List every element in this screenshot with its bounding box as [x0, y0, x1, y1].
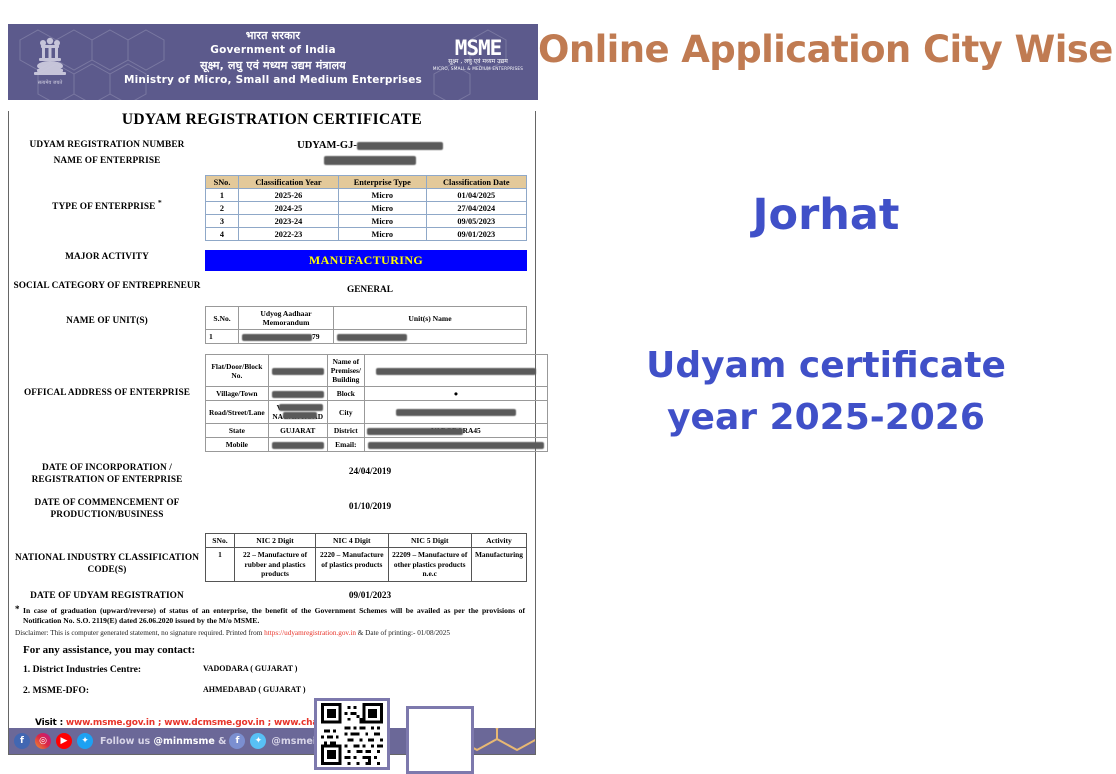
redacted-road-1 — [279, 404, 323, 411]
msme-logo-mark: MSME — [430, 38, 526, 58]
cell-premises-label: Name of Premises/ Building — [327, 355, 364, 387]
instagram-icon[interactable]: ◎ — [35, 733, 51, 749]
youtube-icon[interactable]: ▶ — [56, 733, 72, 749]
cell-district-value: VADODARA45 — [364, 424, 547, 438]
social-category-label: SOCIAL CATEGORY OF ENTREPRENEUR — [9, 279, 205, 293]
nic-row: NATIONAL INDUSTRY CLASSIFICATION CODE(S)… — [9, 531, 535, 582]
cell-uam-suffix: 79 — [312, 332, 320, 341]
redacted-flat — [272, 368, 324, 375]
th-unit-sno: S.No. — [206, 307, 239, 330]
contact-name: 1. District Industries Centre: — [23, 664, 203, 675]
registration-number-label: UDYAM REGISTRATION NUMBER — [9, 138, 205, 152]
cell-email-label: Email: — [327, 438, 364, 452]
right-info-panel: Online Application City Wise Jorhat Udya… — [546, 0, 1116, 753]
th-nic-sno: SNo. — [206, 534, 235, 548]
cell-block-label: Block — [327, 387, 364, 401]
th-sno: SNo. — [206, 176, 239, 189]
cell-district-label: District — [327, 424, 364, 438]
cell-nic-sno: 1 — [206, 548, 235, 582]
cell-year: 2022-23 — [239, 228, 339, 241]
enterprise-name-label: NAME OF ENTERPRISE — [9, 154, 205, 168]
redacted-road-2 — [283, 412, 317, 419]
redacted-registration-number — [357, 142, 443, 150]
th-nic5: NIC 5 Digit — [388, 534, 471, 548]
table-row: 1 79 — [206, 330, 527, 344]
disclaimer: Disclaimer: This is computer generated s… — [9, 626, 535, 638]
cell-type: Micro — [338, 228, 426, 241]
city-name: Jorhat — [546, 190, 1106, 240]
graduation-note-text: In case of graduation (upward/reverse) o… — [23, 606, 525, 625]
contact-item: 2. MSME-DFO: AHMEDABAD ( GUJARAT ) — [9, 675, 535, 696]
cell-district-suffix: 45 — [473, 426, 480, 435]
cell-nic4: 2220 – Manufacture of plastics products — [316, 548, 388, 582]
cell-sno: 2 — [206, 202, 239, 215]
incorporation-value: 24/04/2019 — [205, 461, 535, 477]
nic-table: SNo. NIC 2 Digit NIC 4 Digit NIC 5 Digit… — [205, 533, 527, 582]
table-row: 3 2023-24 Micro 09/05/2023 — [206, 215, 527, 228]
table-row: 1 22 – Manufacture of rubber and plastic… — [206, 548, 527, 582]
cell-sno: 3 — [206, 215, 239, 228]
qr-code — [314, 698, 390, 770]
cell-email-value — [364, 438, 547, 452]
assistance-heading: For any assistance, you may contact: — [9, 638, 535, 660]
cell-uam: 79 — [239, 330, 334, 344]
cell-mobile-value — [268, 438, 327, 452]
contact-value: VADODARA ( GUJARAT ) — [203, 664, 297, 675]
udyam-reg-date-value: 09/01/2023 — [205, 589, 535, 601]
table-row: Mobile Email: — [206, 438, 548, 452]
redacted-premises — [376, 368, 536, 375]
twitter-icon[interactable]: ✦ — [77, 733, 93, 749]
facebook-icon[interactable]: f — [229, 733, 245, 749]
status-badge: MANUFACTURING — [205, 250, 527, 271]
cell-flat-value — [268, 355, 327, 387]
redacted-email — [368, 442, 544, 449]
cell-road-label: Road/Street/Lane — [206, 401, 269, 424]
social-category-row: SOCIAL CATEGORY OF ENTREPRENEUR GENERAL — [9, 279, 535, 295]
cell-premises-value — [364, 355, 547, 387]
major-activity-row: MAJOR ACTIVITY MANUFACTURING — [9, 248, 535, 271]
social-category-value: GENERAL — [205, 279, 535, 295]
twitter-icon[interactable]: ✦ — [250, 733, 266, 749]
cell-year: 2024-25 — [239, 202, 339, 215]
unit-table-cell: S.No. Udyog Aadhaar Memorandum Unit(s) N… — [205, 304, 535, 344]
cell-sno: 1 — [206, 189, 239, 202]
registration-number-text: UDYAM-GJ- — [297, 140, 357, 151]
cell-mobile-label: Mobile — [206, 438, 269, 452]
th-nic4: NIC 4 Digit — [316, 534, 388, 548]
redacted-uam — [242, 334, 312, 341]
cell-nic5: 22209 – Manufacture of other plastics pr… — [388, 548, 471, 582]
certificate-header-banner: सत्यमेव जयते भारत सरकार Government of In… — [8, 24, 538, 100]
cell-city-value — [364, 401, 547, 424]
qr-code-icon — [319, 703, 385, 765]
redacted-mobile — [272, 442, 324, 449]
registration-number-value: UDYAM-GJ- — [205, 138, 535, 151]
enterprise-name-row: NAME OF ENTERPRISE — [9, 154, 535, 168]
ministry-english: Ministry of Micro, Small and Medium Ente… — [8, 73, 538, 88]
msme-logo-english: MICRO, SMALL & MEDIUM ENTERPRISES — [430, 66, 526, 72]
th-enterprise-type: Enterprise Type — [338, 176, 426, 189]
cell-nic-activity: Manufacturing — [471, 548, 526, 582]
major-activity-label: MAJOR ACTIVITY — [9, 248, 205, 264]
facebook-icon[interactable]: f — [14, 733, 30, 749]
nic-table-cell: SNo. NIC 2 Digit NIC 4 Digit NIC 5 Digit… — [205, 531, 535, 582]
cell-year: 2023-24 — [239, 215, 339, 228]
cell-nic2: 22 – Manufacture of rubber and plastics … — [235, 548, 316, 582]
cell-year: 2025-26 — [239, 189, 339, 202]
udyam-reg-date-label: DATE OF UDYAM REGISTRATION — [9, 589, 205, 603]
address-table: Flat/Door/Block No. Name of Premises/ Bu… — [205, 354, 548, 452]
cell-sno: 4 — [206, 228, 239, 241]
udyam-portal-link[interactable]: https://udyamregistration.gov.in — [264, 629, 356, 637]
cell-block-value: ● — [364, 387, 547, 401]
follow-text: Follow us @minmsme & — [100, 736, 226, 747]
table-row: 4 2022-23 Micro 09/01/2023 — [206, 228, 527, 241]
th-unit-name: Unit(s) Name — [334, 307, 527, 330]
incorporation-row: DATE OF INCORPORATION / REGISTRATION OF … — [9, 461, 535, 486]
disclaimer-suffix: & Date of printing:- 01/08/2025 — [356, 629, 450, 637]
msme-logo-hindi: सूक्ष्म , लघु एवं मध्यम उद्यम — [430, 58, 526, 66]
table-row: 2 2024-25 Micro 27/04/2024 — [206, 202, 527, 215]
th-nic2: NIC 2 Digit — [235, 534, 316, 548]
address-label: OFFICAL ADDRESS OF ENTERPRISE — [9, 352, 205, 400]
registration-number-row: UDYAM REGISTRATION NUMBER UDYAM-GJ- — [9, 138, 535, 152]
cell-type: Micro — [338, 202, 426, 215]
enterprise-name-value — [205, 154, 535, 166]
cell-village-value — [268, 387, 327, 401]
cell-state-label: State — [206, 424, 269, 438]
address-row: OFFICAL ADDRESS OF ENTERPRISE Flat/Door/… — [9, 352, 535, 452]
major-activity-value-cell: MANUFACTURING — [205, 248, 535, 271]
th-classification-date: Classification Date — [426, 176, 526, 189]
contact-value: AHMEDABAD ( GUJARAT ) — [203, 685, 306, 696]
panel-heading: Online Application City Wise — [538, 28, 1116, 71]
graduation-note: * In case of graduation (upward/reverse)… — [9, 604, 535, 626]
follow-handle-1: @minmsme — [153, 736, 214, 747]
redacted-village — [272, 391, 324, 398]
redacted-district — [367, 428, 463, 435]
unit-name-label: NAME OF UNIT(S) — [9, 304, 205, 328]
caption-line-2: year 2025-2026 — [546, 392, 1106, 444]
table-header-row: S.No. Udyog Aadhaar Memorandum Unit(s) N… — [206, 307, 527, 330]
redacted-city — [396, 409, 516, 416]
enterprise-type-row: TYPE OF ENTERPRISE * SNo. Classification… — [9, 173, 535, 241]
cell-date: 09/01/2023 — [426, 228, 526, 241]
th-activity: Activity — [471, 534, 526, 548]
cell-date: 27/04/2024 — [426, 202, 526, 215]
blank-overlay-box — [406, 706, 474, 774]
visit-prefix: Visit : — [35, 718, 66, 728]
address-table-cell: Flat/Door/Block No. Name of Premises/ Bu… — [205, 352, 548, 452]
table-header-row: SNo. Classification Year Enterprise Type… — [206, 176, 527, 189]
cell-unit-name — [334, 330, 527, 344]
commencement-row: DATE OF COMMENCEMENT OF PRODUCTION/BUSIN… — [9, 496, 535, 521]
unit-name-row: NAME OF UNIT(S) S.No. Udyog Aadhaar Memo… — [9, 304, 535, 344]
enterprise-type-label-text: TYPE OF ENTERPRISE — [52, 202, 155, 212]
cell-date: 01/04/2025 — [426, 189, 526, 202]
enterprise-type-table-cell: SNo. Classification Year Enterprise Type… — [205, 173, 535, 241]
udyam-certificate-document: सत्यमेव जयते भारत सरकार Government of In… — [8, 24, 538, 746]
contact-name: 2. MSME-DFO: — [23, 685, 203, 696]
table-row: Village/Town Block ● — [206, 387, 548, 401]
enterprise-type-table: SNo. Classification Year Enterprise Type… — [205, 175, 527, 241]
commencement-value: 01/10/2019 — [205, 496, 535, 512]
table-row: Flat/Door/Block No. Name of Premises/ Bu… — [206, 355, 548, 387]
follow-label: Follow us — [100, 736, 153, 747]
nic-label: NATIONAL INDUSTRY CLASSIFICATION CODE(S) — [9, 531, 205, 576]
cell-type: Micro — [338, 215, 426, 228]
th-uam: Udyog Aadhaar Memorandum — [239, 307, 334, 330]
cell-type: Micro — [338, 189, 426, 202]
contact-item: 1. District Industries Centre: VADODARA … — [9, 660, 535, 675]
caption-line-1: Udyam certificate — [546, 340, 1106, 392]
redacted-enterprise-name — [324, 156, 416, 165]
cell-unit-sno: 1 — [206, 330, 239, 344]
commencement-label: DATE OF COMMENCEMENT OF PRODUCTION/BUSIN… — [9, 496, 205, 521]
redacted-unit-name — [337, 334, 407, 341]
msme-logo: MSME सूक्ष्म , लघु एवं मध्यम उद्यम MICRO… — [430, 38, 526, 72]
unit-table: S.No. Udyog Aadhaar Memorandum Unit(s) N… — [205, 306, 527, 344]
enterprise-type-label: TYPE OF ENTERPRISE * — [9, 173, 205, 214]
certificate-year-caption: Udyam certificate year 2025-2026 — [546, 340, 1106, 444]
certificate-body: UDYAM REGISTRATION CERTIFICATE UDYAM REG… — [8, 111, 536, 755]
follow-amp: & — [215, 736, 227, 747]
asterisk-icon: * — [15, 604, 20, 614]
table-header-row: SNo. NIC 2 Digit NIC 4 Digit NIC 5 Digit… — [206, 534, 527, 548]
table-row: Road/Street/Lane VADODARA NAGAR ROAD Cit… — [206, 401, 548, 424]
th-classification-year: Classification Year — [239, 176, 339, 189]
incorporation-label: DATE OF INCORPORATION / REGISTRATION OF … — [9, 461, 205, 486]
table-row: State GUJARAT District VADODARA45 — [206, 424, 548, 438]
udyam-reg-date-row: DATE OF UDYAM REGISTRATION 09/01/2023 — [9, 589, 535, 603]
cell-date: 09/05/2023 — [426, 215, 526, 228]
table-row: 1 2025-26 Micro 01/04/2025 — [206, 189, 527, 202]
cell-road-value: VADODARA NAGAR ROAD — [268, 401, 327, 424]
page-title: UDYAM REGISTRATION CERTIFICATE — [9, 111, 535, 129]
cell-village-label: Village/Town — [206, 387, 269, 401]
cell-state-value: GUJARAT — [268, 424, 327, 438]
disclaimer-prefix: Disclaimer: This is computer generated s… — [15, 629, 264, 637]
cell-city-label: City — [327, 401, 364, 424]
cell-flat-label: Flat/Door/Block No. — [206, 355, 269, 387]
